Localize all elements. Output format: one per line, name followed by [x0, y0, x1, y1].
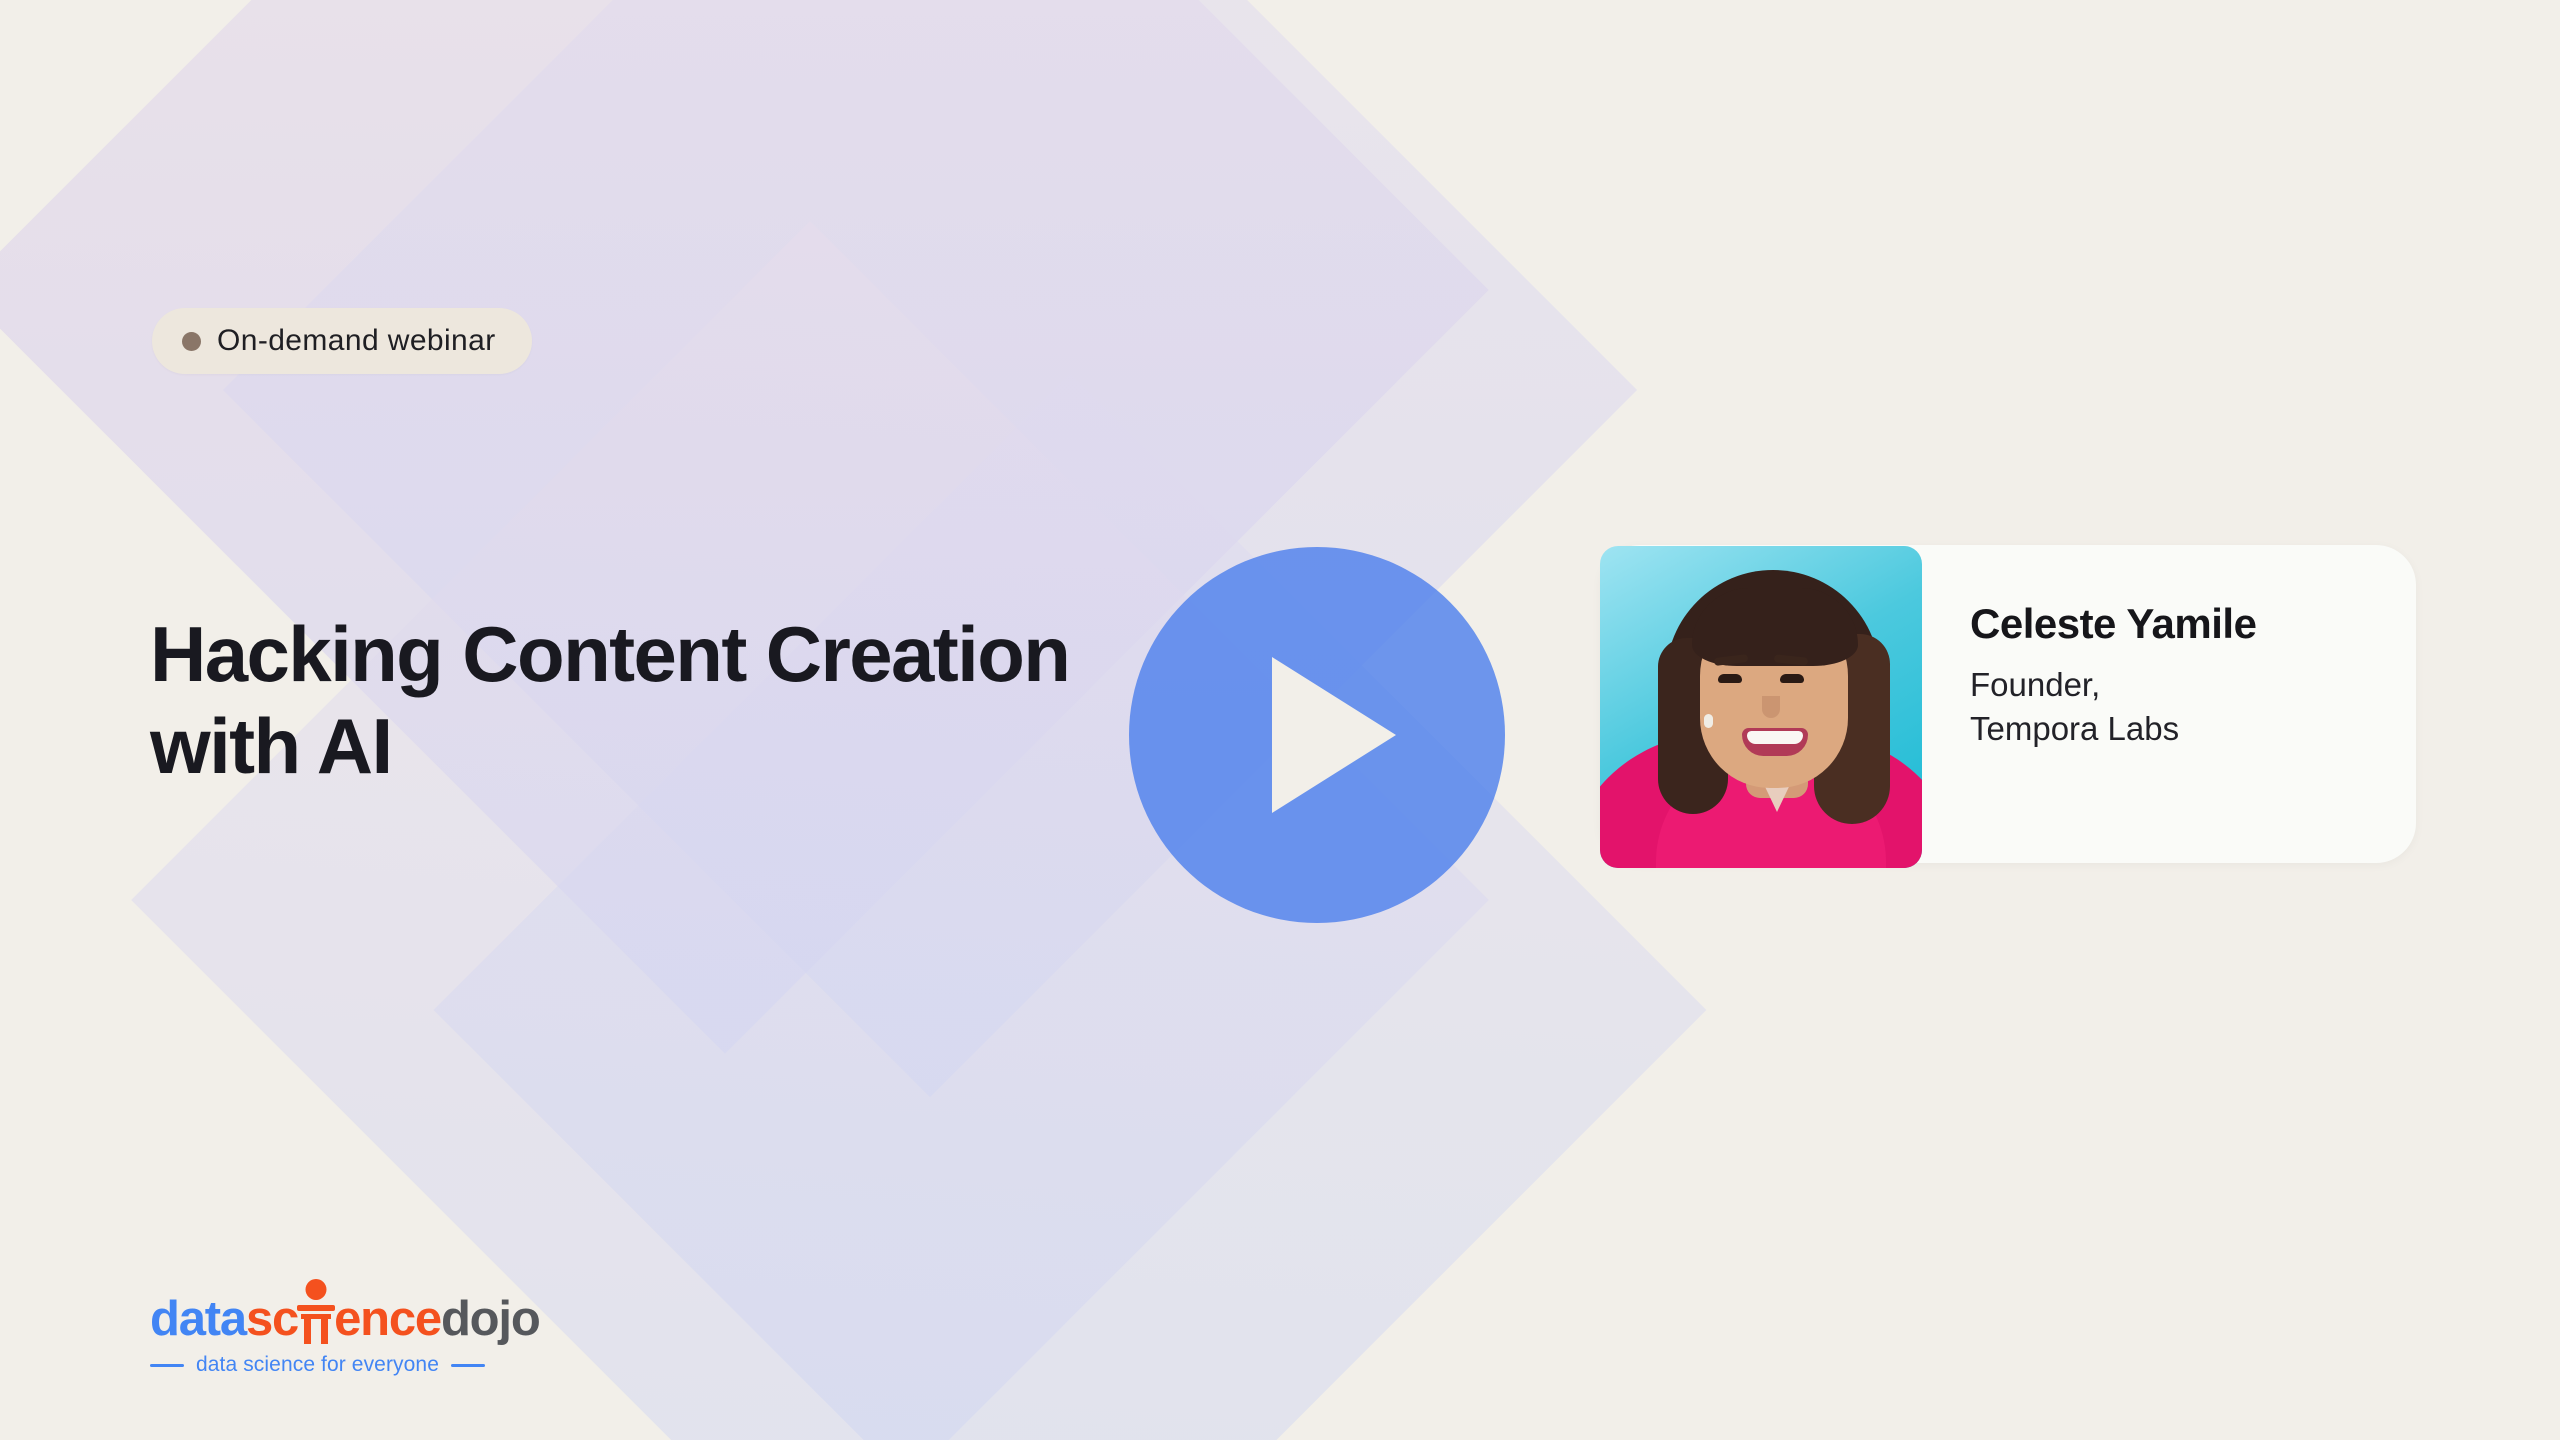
torii-dot — [306, 1279, 327, 1300]
logo-wordmark: data sc ence dojo — [150, 1295, 540, 1344]
portrait-eye-left — [1718, 674, 1742, 683]
status-dot-icon — [182, 332, 201, 351]
logo-text-sc: sc — [246, 1295, 298, 1344]
badge-label: On-demand webinar — [217, 324, 496, 358]
speaker-info: Celeste Yamile Founder, Tempora Labs — [1922, 545, 2416, 750]
torii-leg-left — [304, 1314, 311, 1344]
portrait-eye-right — [1780, 674, 1804, 683]
portrait-teeth — [1747, 731, 1803, 744]
torii-gate-icon — [299, 1295, 333, 1344]
portrait-mouth — [1742, 728, 1808, 756]
logo-text-data: data — [150, 1295, 246, 1344]
speaker-card: Celeste Yamile Founder, Tempora Labs — [1600, 545, 2416, 863]
torii-leg-right — [321, 1314, 328, 1344]
tagline-rule-left — [150, 1364, 184, 1367]
portrait-nose — [1762, 696, 1780, 718]
torii-top-beam — [297, 1305, 335, 1311]
play-video-button[interactable] — [1129, 547, 1505, 923]
speaker-role-line-2: Tempora Labs — [1970, 707, 2416, 751]
portrait-earring — [1704, 714, 1713, 728]
play-triangle-icon — [1272, 657, 1396, 813]
speaker-name: Celeste Yamile — [1970, 601, 2416, 647]
logo-text-dojo: dojo — [441, 1295, 540, 1344]
speaker-avatar — [1600, 546, 1922, 868]
logo-tagline: data science for everyone — [150, 1353, 540, 1377]
tagline-rule-right — [451, 1364, 485, 1367]
speaker-role-line-1: Founder, — [1970, 663, 2416, 707]
diamond-shape-4 — [434, 374, 1707, 1440]
datasciencedojo-logo[interactable]: data sc ence dojo data science for every… — [150, 1295, 540, 1377]
on-demand-webinar-badge: On-demand webinar — [152, 308, 532, 374]
logo-text-ence: ence — [334, 1295, 441, 1344]
tagline-text: data science for everyone — [196, 1353, 439, 1377]
diamond-shape-2 — [223, 0, 1637, 1097]
